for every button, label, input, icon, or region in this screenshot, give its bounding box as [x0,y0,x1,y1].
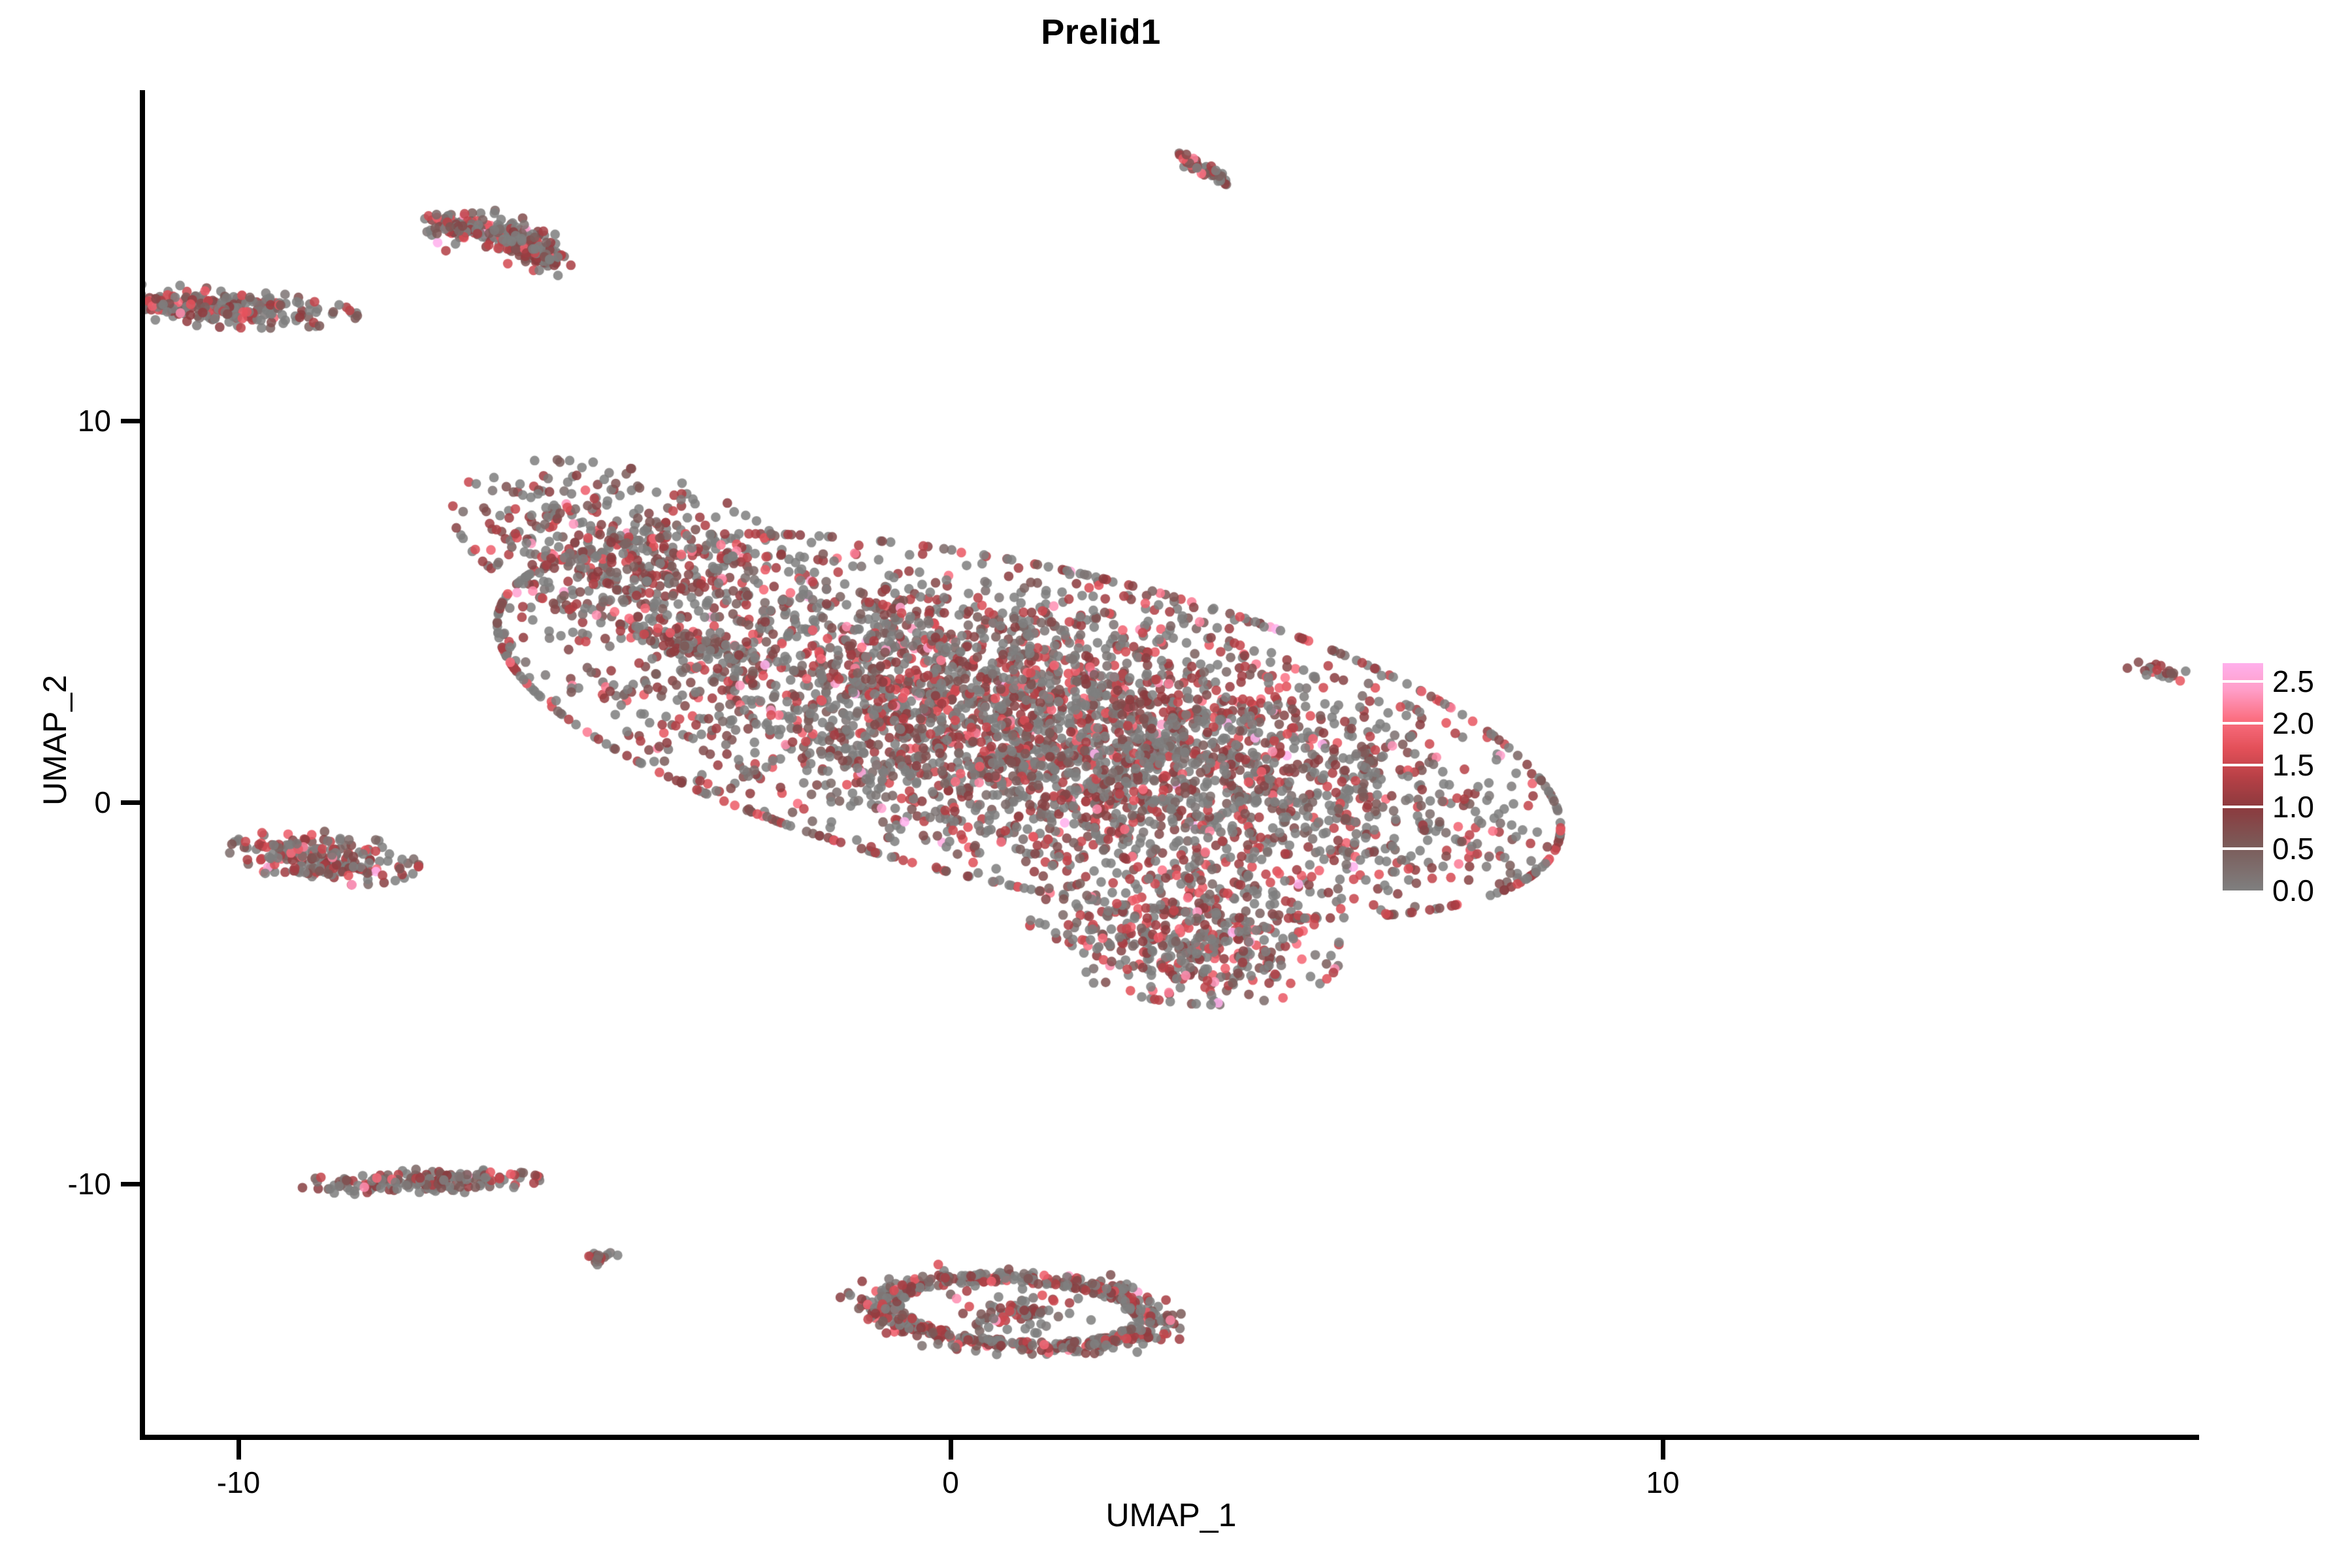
x-tick-mark-10 [1661,1440,1665,1460]
page-title: Prelid1 [0,14,2202,50]
colorbar-tick-label-0.0: 0.0 [2272,875,2314,906]
colorbar-tick-label-1.0: 1.0 [2272,792,2314,822]
y-tick-mark--10 [121,1182,140,1186]
colorbar-tick-mark-2.0 [2223,722,2263,725]
colorbar-gradient [2223,663,2263,890]
colorbar-tick-label-2.5: 2.5 [2272,666,2314,696]
x-tick-label-0: 0 [885,1467,1016,1497]
y-tick-label--10: -10 [39,1169,111,1199]
x-axis-line [140,1435,2199,1440]
scatter-points-layer [144,91,2198,1439]
colorbar-tick-mark-0.5 [2223,847,2263,850]
colorbar-tick-mark-2.5 [2223,680,2263,683]
y-tick-mark-10 [121,419,140,423]
y-tick-label-10: 10 [39,406,111,436]
colorbar-legend: 0.00.51.01.52.02.5 [2223,663,2347,892]
umap-feature-plot: Prelid1 -10010-10010 UMAP_1 UMAP_2 0.00.… [0,0,2352,1568]
colorbar-tick-label-0.5: 0.5 [2272,834,2314,864]
y-axis-title: UMAP_2 [39,479,71,1002]
x-tick-mark-0 [949,1440,953,1460]
plot-panel [144,91,2198,1439]
x-tick-label--10: -10 [173,1467,304,1497]
x-axis-title: UMAP_1 [144,1499,2198,1531]
colorbar-tick-mark-1.5 [2223,764,2263,766]
colorbar-tick-label-2.0: 2.0 [2272,708,2314,738]
y-tick-mark-0 [121,800,140,805]
colorbar-tick-mark-1.0 [2223,806,2263,808]
x-tick-mark--10 [237,1440,241,1460]
colorbar-tick-label-1.5: 1.5 [2272,750,2314,780]
y-axis-line [140,90,145,1440]
x-tick-label-10: 10 [1597,1467,1728,1497]
